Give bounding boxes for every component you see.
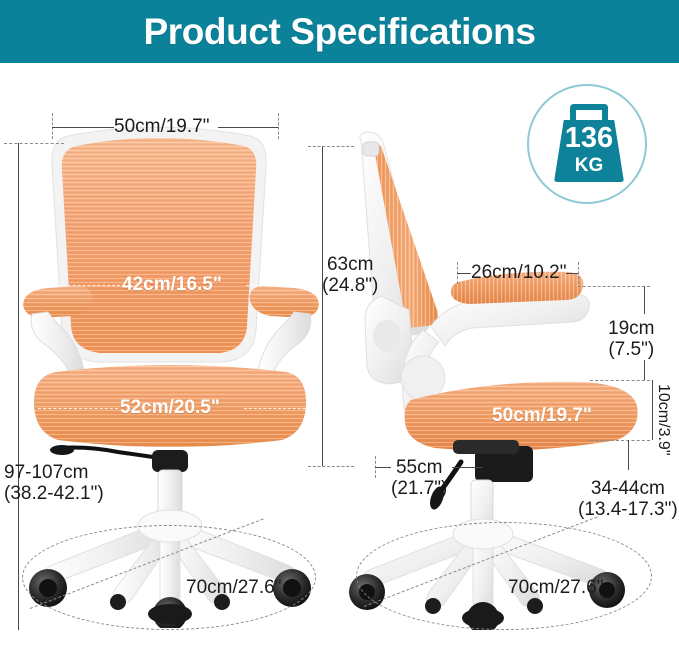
side-seat-height-line — [628, 440, 629, 470]
front-seat-width-line-right — [244, 408, 320, 409]
side-seat-depth-cm: 55cm — [396, 457, 442, 478]
side-seat-top-extension-line — [590, 380, 650, 381]
front-overall-height-line — [18, 143, 19, 630]
side-armrest-height-in: (7.5") — [608, 339, 654, 360]
side-seat-depth-line-right — [452, 467, 482, 468]
side-backrest-height-cm: 63cm — [327, 254, 373, 275]
side-backrest-tick-bottom — [308, 466, 354, 467]
header-banner: Product Specifications — [0, 0, 679, 63]
side-seat-depth-top-label: 50cm/19.7" — [492, 405, 592, 427]
side-backrest-height-in: (24.8") — [322, 275, 378, 296]
front-backrest-inner-width-label: 42cm/16.5" — [122, 274, 222, 296]
front-seat-width-label: 52cm/20.5" — [120, 397, 220, 419]
side-seat-height-cm: 34-44cm — [591, 478, 665, 499]
side-armrest-height-line-bottom — [644, 360, 645, 380]
weight-handle-icon — [570, 104, 608, 122]
front-backrest-width-label: 50cm/19.7" — [114, 117, 209, 137]
side-base-diameter-ellipse — [356, 522, 652, 630]
side-seat-thickness-line — [652, 380, 653, 440]
side-armrest-tick-right — [578, 262, 579, 284]
side-seat-height-in: (13.4-17.3") — [578, 499, 678, 520]
front-width-line-left — [52, 127, 114, 128]
front-inner-width-line-left — [58, 285, 120, 286]
side-seat-thickness-label: 10cm/3.9" — [654, 384, 672, 456]
front-overall-height-in: (38.2-42.1") — [4, 483, 104, 504]
side-backrest-height-label: 63cm (24.8") — [322, 254, 378, 297]
side-armrest-line-left — [457, 273, 471, 274]
side-armrest-line-right — [566, 273, 578, 274]
front-seat-width-line-left — [38, 408, 118, 409]
front-width-tick-left — [52, 113, 53, 139]
front-width-line-right — [218, 127, 278, 128]
side-seat-bottom-extension-line — [590, 440, 650, 441]
front-base-diameter-label: 70cm/27.6" — [186, 578, 281, 598]
side-seat-depth-label: 55cm (21.7") — [391, 457, 447, 500]
side-armrest-height-label: 19cm (7.5") — [608, 318, 654, 361]
page-title: Product Specifications — [143, 11, 535, 53]
side-backrest-height-line — [322, 146, 323, 466]
front-overall-height-cm: 97-107cm — [4, 462, 89, 483]
side-seat-depth-line-left — [375, 467, 391, 468]
side-base-diameter-label: 70cm/27.6" — [508, 578, 603, 598]
front-width-tick-right — [278, 113, 279, 139]
side-armrest-extension-line — [578, 286, 650, 287]
side-seat-depth-in: (21.7") — [391, 478, 447, 499]
side-armrest-height-line-top — [644, 286, 645, 314]
side-seat-height-label: 34-44cm (13.4-17.3") — [578, 478, 678, 521]
front-overall-height-label: 97-107cm (38.2-42.1") — [4, 462, 104, 505]
front-inner-width-line-right — [246, 285, 308, 286]
side-armrest-height-cm: 19cm — [608, 318, 654, 339]
armrest-right — [250, 286, 319, 376]
front-height-tick-top — [4, 143, 64, 144]
side-backrest-tick-top — [308, 146, 354, 147]
header-divider — [0, 63, 679, 66]
side-armrest-length-label: 26cm/10.2" — [471, 263, 566, 283]
product-specifications-page: Product Specifications 136 KG — [0, 0, 679, 656]
